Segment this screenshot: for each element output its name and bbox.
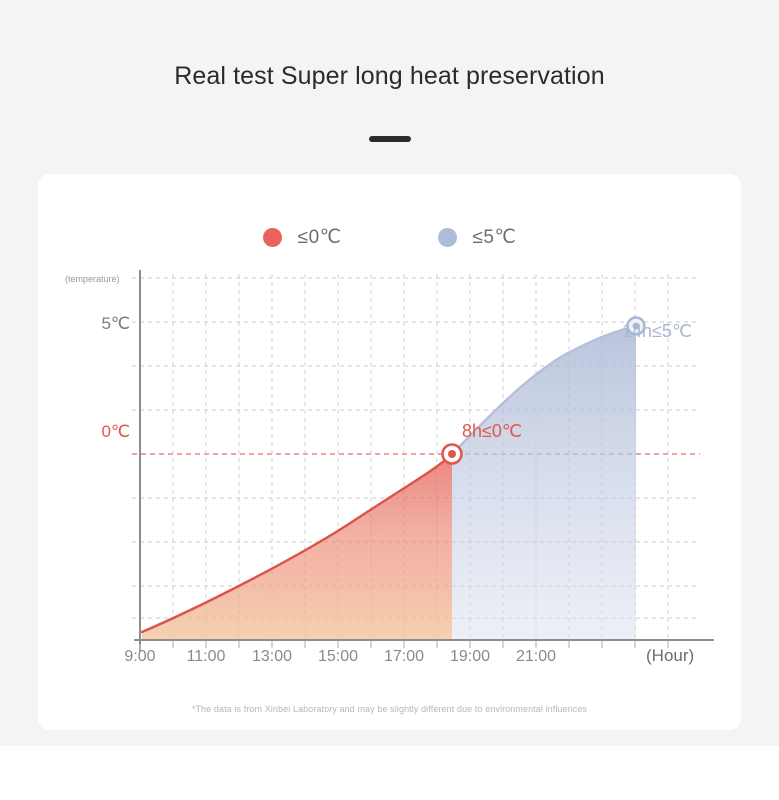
x-tick-label-4: 17:00 (374, 648, 434, 666)
y-axis-caption: (temperature) (65, 274, 120, 284)
x-tick-label-0: 9:00 (110, 648, 170, 666)
page-root: Real test Super long heat preservation ≤… (0, 0, 779, 800)
y-tick-label-5c: 5℃ (68, 314, 130, 334)
x-tick-label-6: 21:00 (506, 648, 566, 666)
chart-footnote: *The data is from Xinbei Laboratory and … (38, 704, 741, 714)
annotation-label-8h: 8h≤0℃ (462, 421, 522, 442)
chart-svg (38, 174, 741, 730)
x-tick-label-3: 15:00 (308, 648, 368, 666)
x-tick-label-1: 11:00 (176, 648, 236, 666)
series-area-blue (452, 326, 636, 640)
series-area-red (142, 454, 452, 640)
annotation-label-14h: 14h≤5℃ (622, 321, 692, 342)
page-title: Real test Super long heat preservation (0, 62, 779, 91)
ring-marker-red (443, 445, 462, 464)
y-tick-label-0c: 0℃ (68, 422, 130, 442)
x-tick-label-5: 19:00 (440, 648, 500, 666)
chart-plot-area: (temperature) 5℃ 0℃ 9:00 11:00 13:00 15:… (38, 174, 741, 730)
title-underline-rule (369, 136, 411, 142)
chart-card: ≤0℃ ≤5℃ (38, 174, 741, 730)
x-tick-label-2: 13:00 (242, 648, 302, 666)
x-axis-caption: (Hour) (646, 646, 694, 666)
